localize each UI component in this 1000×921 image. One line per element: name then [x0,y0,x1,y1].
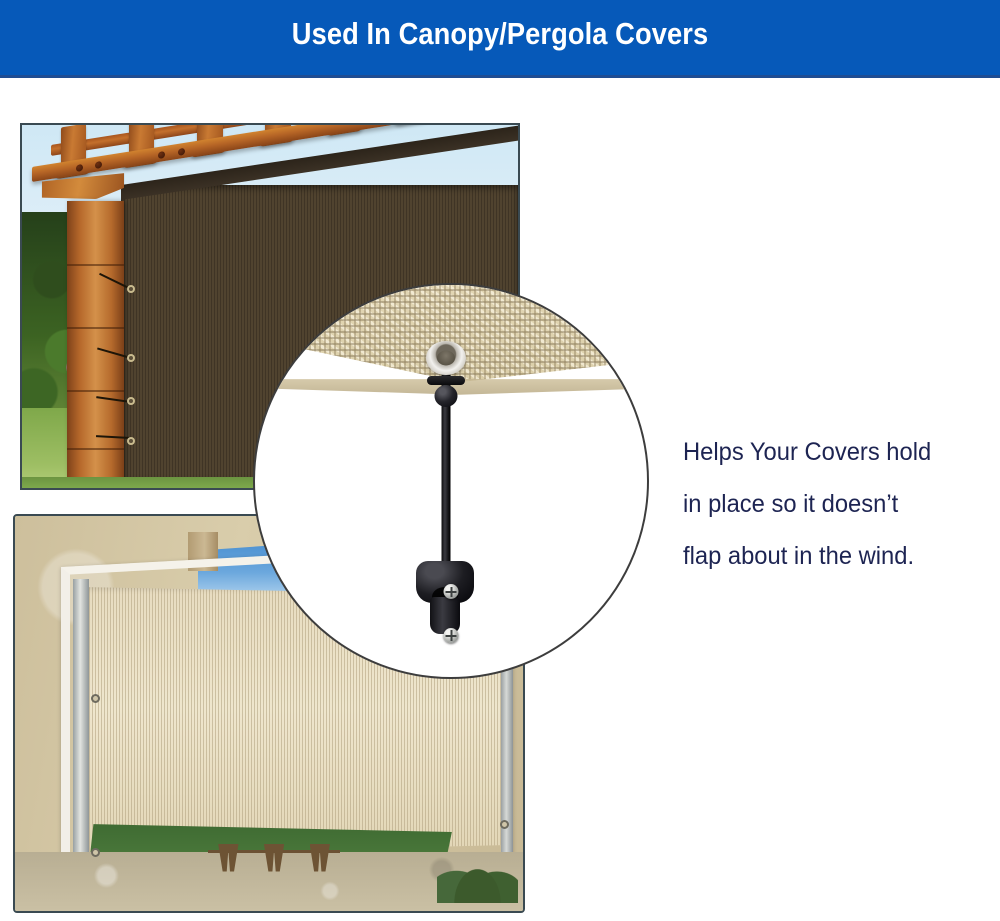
post-seam [67,390,124,392]
hook-collar [427,376,465,385]
product-detail-closeup [253,283,649,679]
grommet-hole [437,350,455,365]
caption-line: flap about in the wind. [683,530,968,582]
bolt [158,150,165,158]
cloth-grommet [127,354,135,362]
post-seam [67,327,124,329]
bolt [95,160,102,168]
metal-grommet [426,341,466,375]
screw-icon [444,584,459,599]
caption-line: Helps Your Covers hold [683,426,968,478]
caption-line: in place so it doesn’t [683,478,968,530]
cloth-grommet [91,848,100,857]
cloth-grommet [91,694,100,703]
bolt [76,163,83,171]
product-infographic: Used In Canopy/Pergola Covers [0,0,1000,921]
post-seam [67,264,124,266]
page-title: Used In Canopy/Pergola Covers [60,16,940,52]
post-seam [67,448,124,450]
hook-ball-stop [434,385,457,407]
caption-text: Helps Your Covers hold in place so it do… [683,426,983,582]
rafter-cap [394,123,431,125]
screw-icon [444,628,459,643]
cloth-grommet [127,285,135,293]
header-banner: Used In Canopy/Pergola Covers [0,0,1000,78]
shrub [437,844,518,903]
bracket-foot-plate [430,597,460,634]
bolt [178,147,185,155]
pergola-post [67,201,124,488]
